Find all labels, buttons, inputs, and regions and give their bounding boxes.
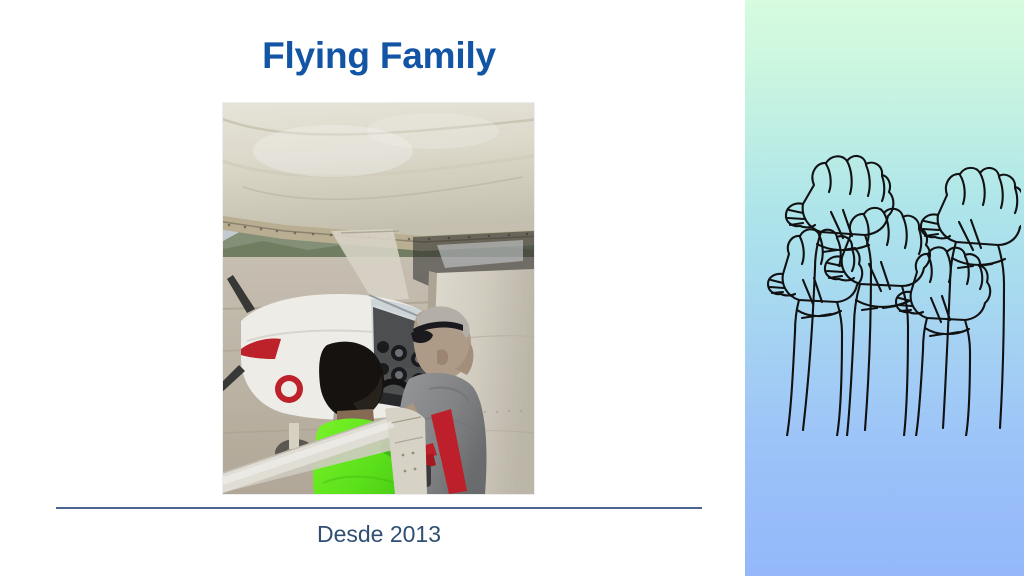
- raised-fists-icon: [759, 128, 1021, 436]
- decorative-gradient-panel: [745, 0, 1024, 576]
- photo-illustration: [223, 103, 534, 494]
- page-title: Flying Family: [56, 33, 702, 79]
- raised-fists-line-art: [759, 128, 1021, 436]
- slide-canvas: Flying Family: [0, 0, 1024, 576]
- divider-line: [56, 507, 702, 509]
- slide-photo: [223, 103, 534, 494]
- subtitle: Desde 2013: [56, 517, 702, 551]
